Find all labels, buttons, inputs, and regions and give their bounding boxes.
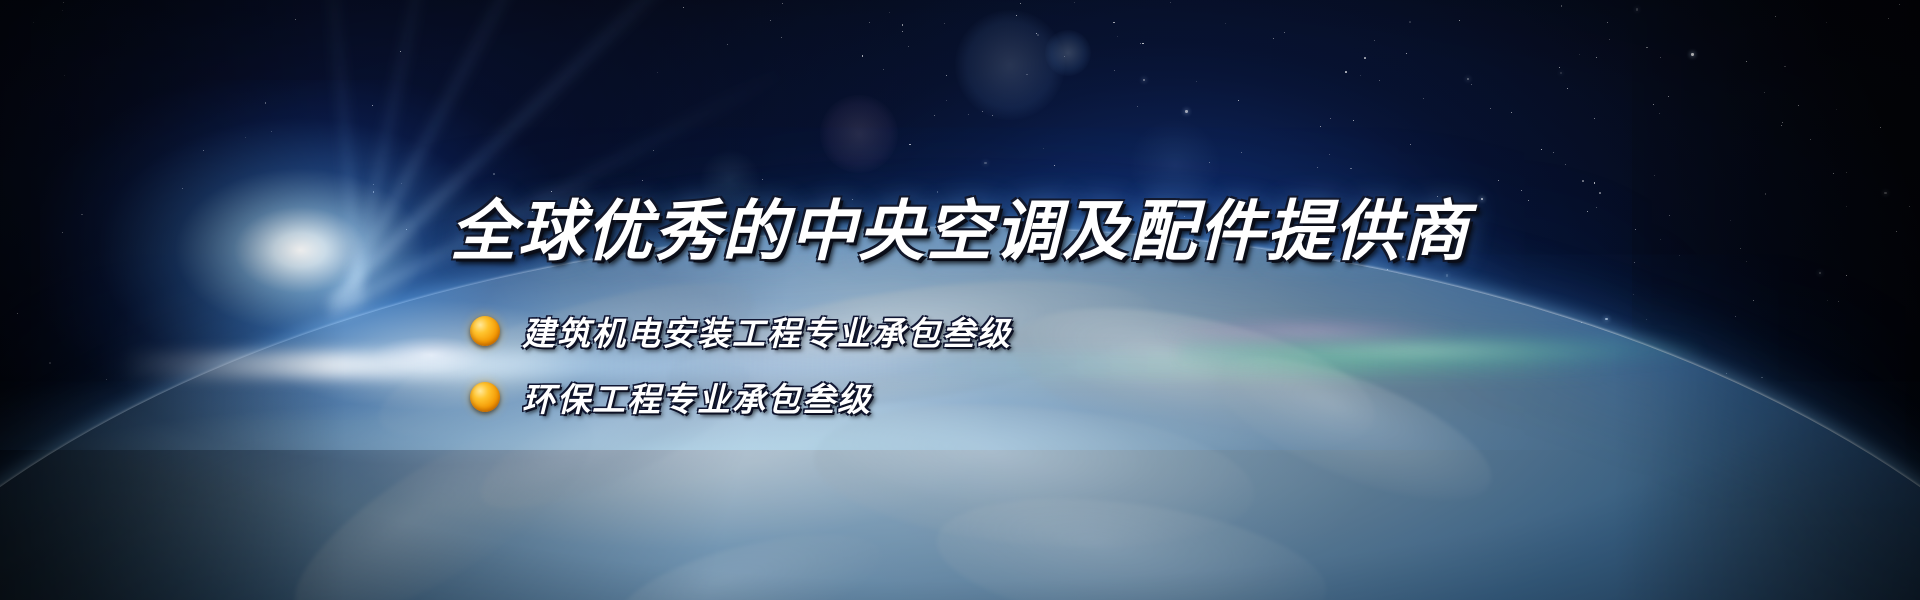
page-title: 全球优秀的中央空调及配件提供商 <box>0 198 1920 264</box>
gold-dot-icon <box>470 316 500 346</box>
banner-content: 全球优秀的中央空调及配件提供商 建筑机电安装工程专业承包叁级 环保工程专业承包叁… <box>0 0 1920 600</box>
qualification-list: 建筑机电安装工程专业承包叁级 环保工程专业承包叁级 <box>470 305 1012 437</box>
list-item: 环保工程专业承包叁级 <box>470 371 1012 423</box>
qualification-label: 建筑机电安装工程专业承包叁级 <box>522 307 1012 355</box>
hero-banner: 全球优秀的中央空调及配件提供商 建筑机电安装工程专业承包叁级 环保工程专业承包叁… <box>0 0 1920 600</box>
qualification-label: 环保工程专业承包叁级 <box>522 373 872 421</box>
gold-dot-icon <box>470 382 500 412</box>
list-item: 建筑机电安装工程专业承包叁级 <box>470 305 1012 357</box>
